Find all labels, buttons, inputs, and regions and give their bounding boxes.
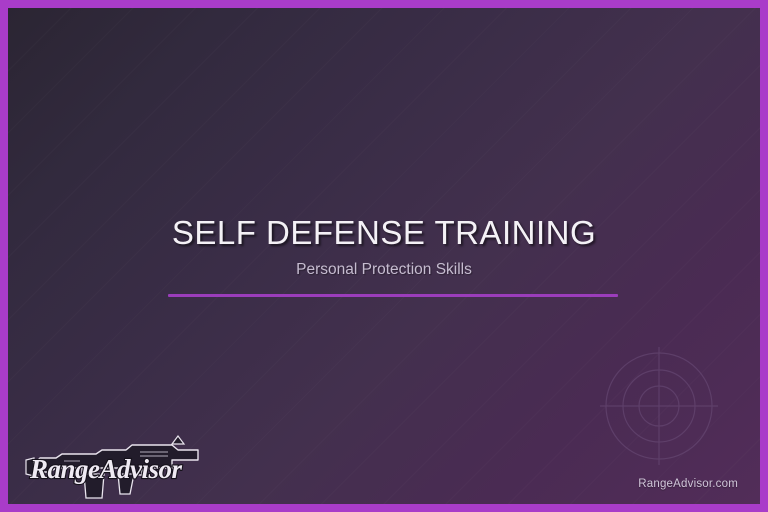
title-divider <box>168 294 618 297</box>
page-subtitle: Personal Protection Skills <box>8 261 760 280</box>
title-block: SELF DEFENSE TRAINING Personal Protectio… <box>8 214 760 280</box>
crosshair-target-icon <box>600 347 718 465</box>
presentation-slide: SELF DEFENSE TRAINING Personal Protectio… <box>0 0 768 512</box>
site-watermark: RangeAdvisor.com <box>638 478 738 490</box>
brand-logo: RangeAdvisor <box>22 428 207 504</box>
slide-canvas: SELF DEFENSE TRAINING Personal Protectio… <box>8 8 760 504</box>
page-title: SELF DEFENSE TRAINING <box>8 214 760 253</box>
logo-wordmark: RangeAdvisor <box>29 454 183 484</box>
